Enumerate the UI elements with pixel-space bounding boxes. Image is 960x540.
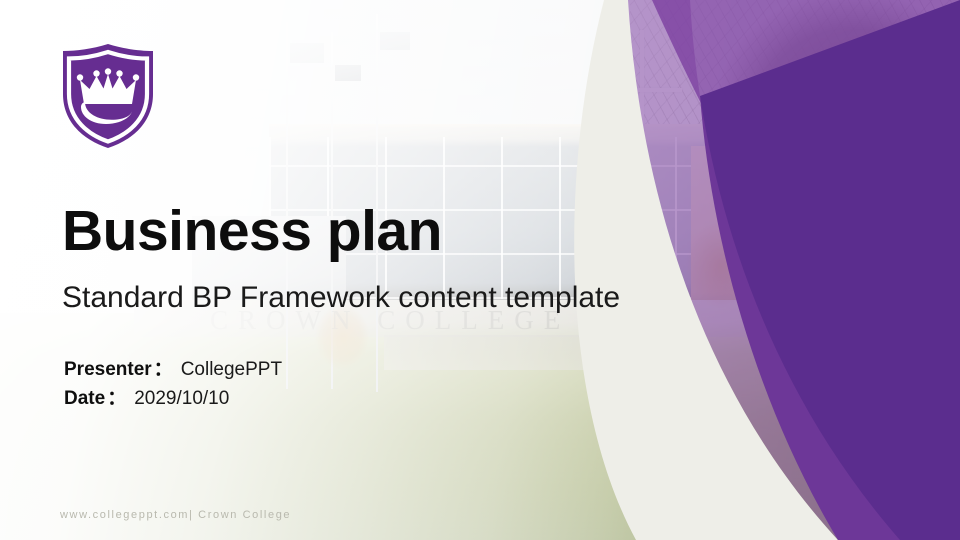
presenter-value: CollegePPT — [175, 359, 282, 380]
date-separator: ： — [105, 388, 128, 409]
presenter-row: Presenter：CollegePPT — [64, 355, 282, 384]
presenter-separator: ： — [152, 359, 175, 380]
presenter-label: Presenter — [64, 359, 152, 380]
date-row: Date：2029/10/10 — [64, 384, 282, 413]
page-subtitle: Standard BP Framework content template — [62, 283, 620, 313]
footer-credit: www.collegeppt.com| Crown College — [60, 509, 291, 521]
page-title: Business plan — [62, 203, 442, 260]
crown-college-shield-logo — [58, 42, 158, 150]
presentation-meta: Presenter：CollegePPT Date：2029/10/10 — [64, 355, 282, 414]
title-slide: CROWN COLLEGE Business plan St — [0, 0, 960, 540]
date-value: 2029/10/10 — [128, 388, 229, 409]
date-label: Date — [64, 388, 105, 409]
